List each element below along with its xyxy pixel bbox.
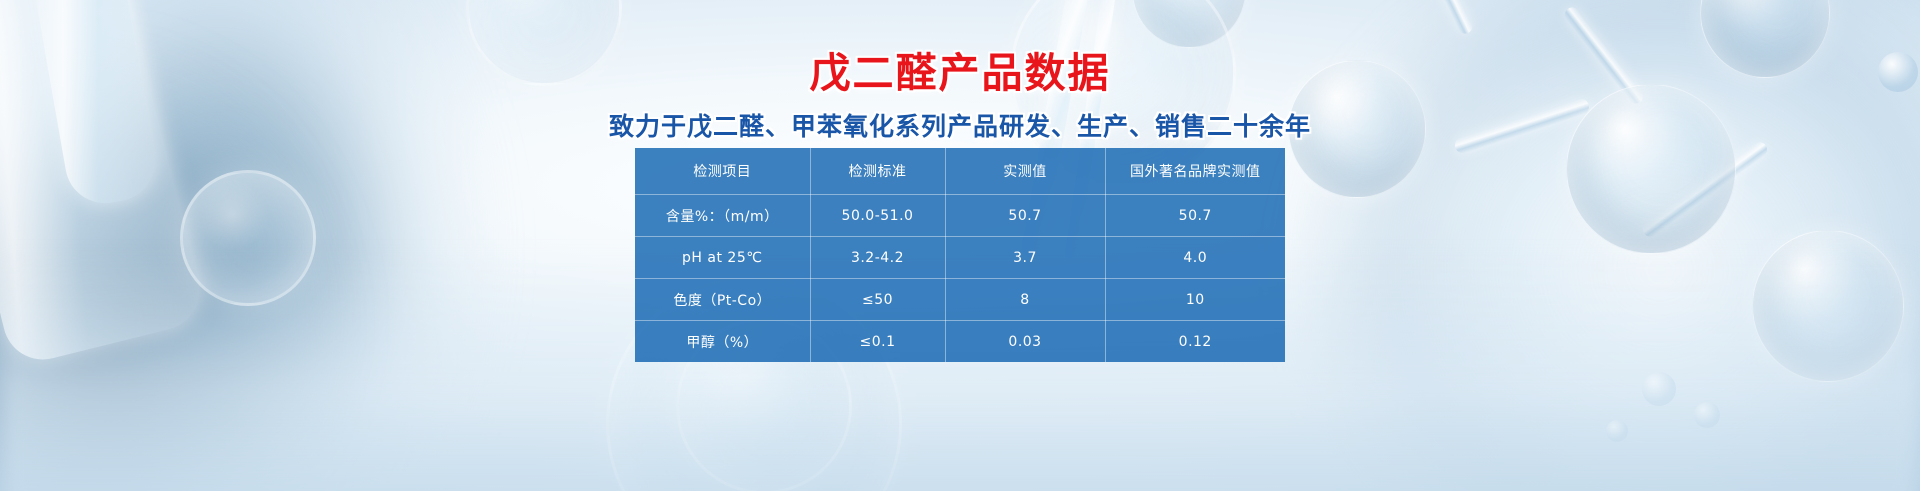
table-row: 含量%：（m/m） 50.0-51.0 50.7 50.7 [635, 195, 1285, 237]
cell-item: 甲醇（%） [635, 321, 810, 363]
cell-measured: 0.03 [945, 321, 1105, 363]
cell-item: 色度（Pt-Co） [635, 279, 810, 321]
table-header: 检测项目 检测标准 实测值 国外著名品牌实测值 [635, 148, 1285, 195]
cell-foreign-brand: 10 [1105, 279, 1285, 321]
column-header-foreign-brand: 国外著名品牌实测值 [1105, 148, 1285, 195]
product-spec-table: 检测项目 检测标准 实测值 国外著名品牌实测值 含量%：（m/m） 50.0-5… [635, 148, 1285, 362]
table-row: 色度（Pt-Co） ≤50 8 10 [635, 279, 1285, 321]
cell-standard: 3.2-4.2 [810, 237, 945, 279]
column-header-item: 检测项目 [635, 148, 810, 195]
table-header-row: 检测项目 检测标准 实测值 国外著名品牌实测值 [635, 148, 1285, 195]
column-header-standard: 检测标准 [810, 148, 945, 195]
product-spec-table-container: 检测项目 检测标准 实测值 国外著名品牌实测值 含量%：（m/m） 50.0-5… [635, 148, 1285, 362]
cell-measured: 3.7 [945, 237, 1105, 279]
cell-item: pH at 25℃ [635, 237, 810, 279]
table-row: pH at 25℃ 3.2-4.2 3.7 4.0 [635, 237, 1285, 279]
table-row: 甲醇（%） ≤0.1 0.03 0.12 [635, 321, 1285, 363]
column-header-measured: 实测值 [945, 148, 1105, 195]
cell-standard: 50.0-51.0 [810, 195, 945, 237]
page-subtitle: 致力于戊二醛、甲苯氧化系列产品研发、生产、销售二十余年 [0, 107, 1920, 143]
cell-foreign-brand: 4.0 [1105, 237, 1285, 279]
cell-foreign-brand: 50.7 [1105, 195, 1285, 237]
product-data-banner: 戊二醛产品数据 致力于戊二醛、甲苯氧化系列产品研发、生产、销售二十余年 检测项目… [0, 0, 1920, 491]
cell-standard: ≤50 [810, 279, 945, 321]
cell-item: 含量%：（m/m） [635, 195, 810, 237]
banner-heading-group: 戊二醛产品数据 致力于戊二醛、甲苯氧化系列产品研发、生产、销售二十余年 [0, 52, 1920, 143]
cell-standard: ≤0.1 [810, 321, 945, 363]
table-body: 含量%：（m/m） 50.0-51.0 50.7 50.7 pH at 25℃ … [635, 195, 1285, 363]
cell-foreign-brand: 0.12 [1105, 321, 1285, 363]
cell-measured: 8 [945, 279, 1105, 321]
cell-measured: 50.7 [945, 195, 1105, 237]
page-title: 戊二醛产品数据 [0, 52, 1920, 95]
